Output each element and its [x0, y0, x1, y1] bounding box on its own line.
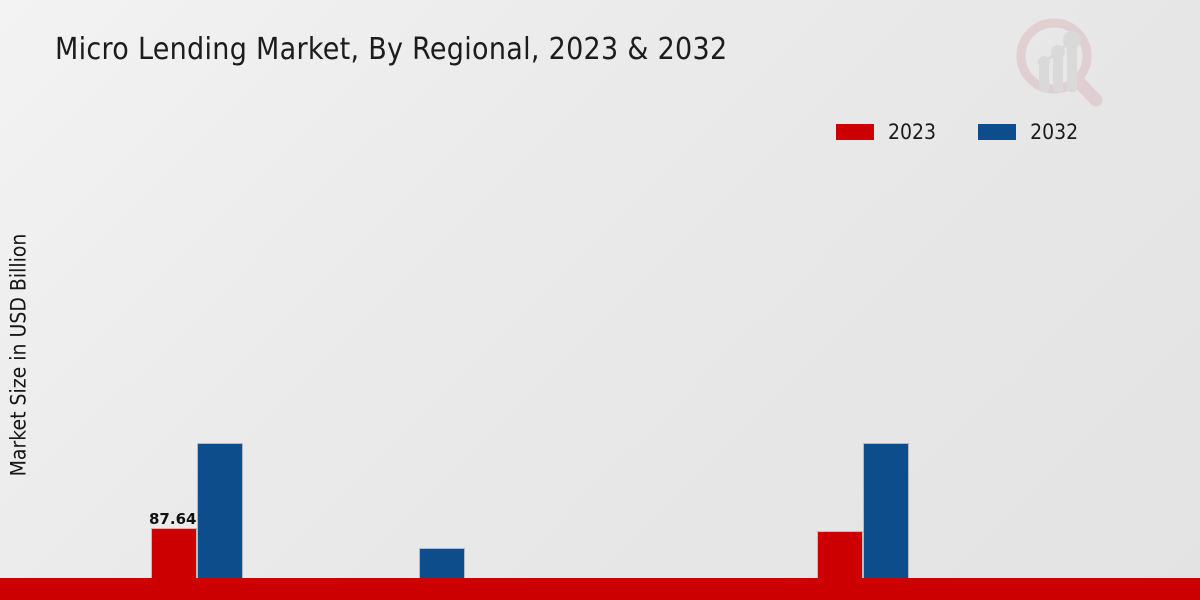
plot-area: 87.64 NORTHAMERICAEUROPESOUTHAMERICAASIA… [42, 150, 1192, 470]
legend-label-2023: 2023 [888, 120, 936, 144]
bar-2032-3[interactable] [863, 443, 909, 600]
chart-legend: 2023 2032 [836, 120, 1078, 144]
page-title: Micro Lending Market, By Regional, 2023 … [55, 32, 727, 67]
legend-swatch-2032 [978, 124, 1016, 140]
y-axis-title-text: Market Size in USD Billion [6, 234, 30, 477]
bar-value-label: 87.64 [149, 510, 196, 528]
bar-2032-0[interactable] [197, 443, 243, 600]
chart-page: Micro Lending Market, By Regional, 2023 … [0, 0, 1200, 600]
market-research-logo-watermark-icon [1008, 14, 1108, 110]
legend-label-2032: 2032 [1030, 120, 1078, 144]
legend-item-2032[interactable]: 2032 [978, 120, 1078, 144]
legend-item-2023[interactable]: 2023 [836, 120, 936, 144]
legend-swatch-2023 [836, 124, 874, 140]
y-axis-title: Market Size in USD Billion [0, 180, 36, 530]
footer-accent-bar [0, 578, 1200, 600]
